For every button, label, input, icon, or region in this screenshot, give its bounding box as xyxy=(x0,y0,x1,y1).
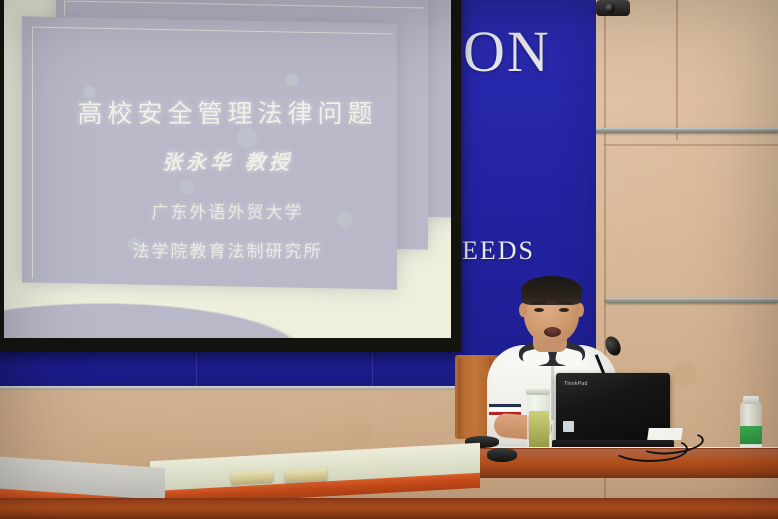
sleeve-stripe xyxy=(489,408,521,411)
slide-title: 高校安全管理法律问题 xyxy=(4,94,451,130)
ear-left xyxy=(519,303,527,317)
wall-trim-strip xyxy=(606,298,778,303)
sleeve-stripe xyxy=(489,404,521,407)
ceiling-speaker-icon xyxy=(596,0,630,16)
front-desk-front-panel xyxy=(0,498,778,519)
desk-nameplate xyxy=(231,470,273,484)
shirt-placket xyxy=(551,360,554,420)
lecture-hall-photo: ON EEDS 高校安全管理法律问题 张永华 教授 广东外语外贸大学 法学院教育… xyxy=(0,0,778,519)
laptop-sticker xyxy=(563,421,574,432)
mouth xyxy=(544,327,561,337)
projection-screen: 高校安全管理法律问题 张永华 教授 广东外语外贸大学 法学院教育法制研究所 xyxy=(4,0,451,338)
desk-nameplate xyxy=(285,468,327,482)
desk-puck xyxy=(487,448,517,462)
slide-org-line-1: 广东外语外贸大学 xyxy=(4,198,451,223)
slide-org-line-2: 法学院教育法制研究所 xyxy=(4,237,451,262)
wall-seam-vertical xyxy=(676,0,678,140)
bottle-cap xyxy=(743,396,759,404)
tea-jar xyxy=(527,393,551,455)
speaker-lens-icon xyxy=(605,3,615,13)
speaker-hair xyxy=(521,276,582,305)
thinkpad-logo: ThinkPad xyxy=(564,381,588,387)
wall-seam-horizontal xyxy=(604,144,778,146)
wall-trim-strip xyxy=(596,128,778,133)
chair-post xyxy=(458,358,465,438)
ear-right xyxy=(576,303,584,317)
backdrop-text-top: ON xyxy=(463,18,551,85)
tea-jar-lid xyxy=(526,389,550,395)
eye-right xyxy=(559,308,569,312)
slide-author: 张永华 教授 xyxy=(4,146,451,175)
backdrop-text-bottom: EEDS xyxy=(462,236,535,266)
eye-left xyxy=(534,308,544,312)
